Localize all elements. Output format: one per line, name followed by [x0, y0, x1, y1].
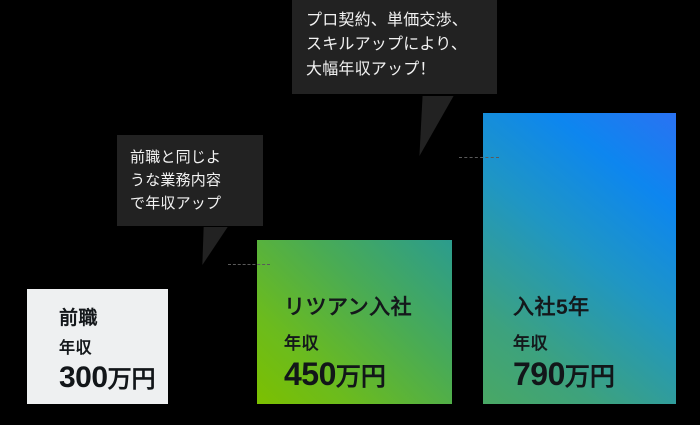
bar-joined-company-value-unit: 万円: [336, 363, 386, 391]
bar-previous-job-sublabel: 年収: [59, 341, 168, 357]
connector-line-two: [459, 157, 499, 158]
callout-two-pointer: [419, 96, 453, 156]
bar-previous-job-value-number: 300: [59, 361, 108, 394]
bar-joined-company-value: 450万円: [284, 358, 452, 390]
bar-joined-company-value-number: 450: [284, 356, 336, 392]
bar-joined-company-category: リツアン入社: [284, 297, 452, 318]
bar-previous-job-category: 前職: [59, 309, 168, 328]
callout-two-text: プロ契約、単価交渉、 スキルアップにより、 大幅年収アップ！: [306, 9, 485, 82]
bar-joined-company-sublabel: 年収: [284, 335, 452, 352]
bar-joined-company: リツアン入社 年収 450万円: [257, 240, 452, 404]
bar-five-years-content: 入社5年 年収 790万円: [483, 297, 676, 404]
callout-five-years-note: プロ契約、単価交渉、 スキルアップにより、 大幅年収アップ！: [292, 0, 497, 94]
bar-five-years: 入社5年 年収 790万円: [483, 113, 676, 404]
callout-one-text: 前職と同じよ うな業務内容 で年収アップ: [130, 147, 252, 215]
connector-line-one: [228, 264, 270, 265]
bar-five-years-value-number: 790: [513, 356, 565, 392]
bar-previous-job: 前職 年収 300万円: [27, 289, 168, 404]
bar-joined-company-content: リツアン入社 年収 450万円: [257, 297, 452, 404]
bar-previous-job-value: 300万円: [59, 363, 168, 393]
bar-five-years-value: 790万円: [513, 358, 676, 390]
bar-previous-job-content: 前職 年収 300万円: [27, 309, 168, 404]
callout-one-pointer: [202, 227, 227, 265]
callout-previous-job-note: 前職と同じよ うな業務内容 で年収アップ: [117, 135, 263, 226]
bar-previous-job-value-unit: 万円: [108, 366, 156, 393]
bar-five-years-value-unit: 万円: [565, 363, 615, 391]
bar-five-years-sublabel: 年収: [513, 335, 676, 352]
infographic-canvas: 前職 年収 300万円 リツアン入社 年収 450万円 入社5年 年収 790万…: [0, 0, 700, 425]
bar-five-years-category: 入社5年: [513, 297, 676, 318]
